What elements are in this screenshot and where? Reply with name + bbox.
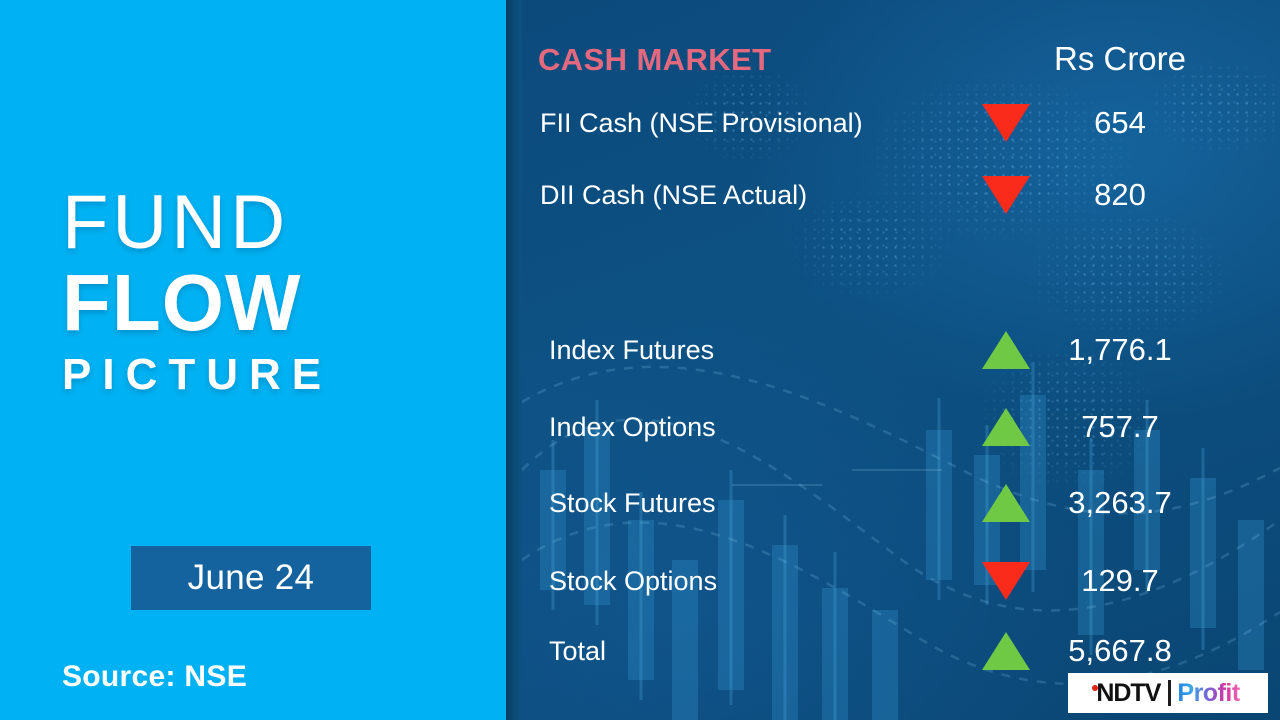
row-label: Stock Futures [549,475,716,531]
row-label: Index Options [549,399,716,455]
table-row: Index Futures 1,776.1 [522,322,1280,378]
table-header: CASH MARKET Rs Crore [522,0,1280,95]
table-row: Stock Options 129.7 [522,553,1280,609]
logo-red-dot-icon [1092,685,1098,691]
table-row-total: Total 5,667.8 [522,623,1280,679]
row-label: DII Cash (NSE Actual) [540,167,807,223]
data-panel: CASH MARKET Rs Crore FII Cash (NSE Provi… [522,0,1280,720]
table-row: FII Cash (NSE Provisional) 654 [522,95,1280,151]
brand-line-picture: PICTURE [62,353,482,396]
row-label: Stock Options [549,553,717,609]
row-value: 654 [1020,95,1220,151]
brand-title: FUND FLOW PICTURE [62,186,482,396]
row-value: 1,776.1 [1020,322,1220,378]
logo-profit-text: Profit [1177,679,1239,708]
row-value: 129.7 [1020,553,1220,609]
row-label: Index Futures [549,322,714,378]
row-label: Total [549,623,606,679]
panel-divider [506,0,522,720]
section-title: CASH MARKET [538,42,771,78]
left-title-panel: FUND FLOW PICTURE June 24 Source: NSE [0,0,506,720]
row-value: 820 [1020,167,1220,223]
logo-separator-bar [1168,680,1171,706]
brand-line-flow: FLOW [62,264,482,342]
table-row: DII Cash (NSE Actual) 820 [522,167,1280,223]
date-badge: June 24 [131,546,371,610]
row-value: 757.7 [1020,399,1220,455]
logo-ndtv-text: NDTV [1096,679,1167,708]
table-row: Index Options 757.7 [522,399,1280,455]
unit-label: Rs Crore [1020,40,1220,78]
row-label: FII Cash (NSE Provisional) [540,95,863,151]
source-label: Source: NSE [62,660,247,694]
fund-flow-picture-graphic: FUND FLOW PICTURE June 24 Source: NSE [0,0,1280,720]
row-value: 3,263.7 [1020,475,1220,531]
date-badge-label: June 24 [188,558,315,598]
table-row: Stock Futures 3,263.7 [522,475,1280,531]
row-value: 5,667.8 [1020,623,1220,679]
ndtv-profit-logo: NDTV Profit [1068,673,1268,713]
brand-line-fund: FUND [62,186,482,260]
